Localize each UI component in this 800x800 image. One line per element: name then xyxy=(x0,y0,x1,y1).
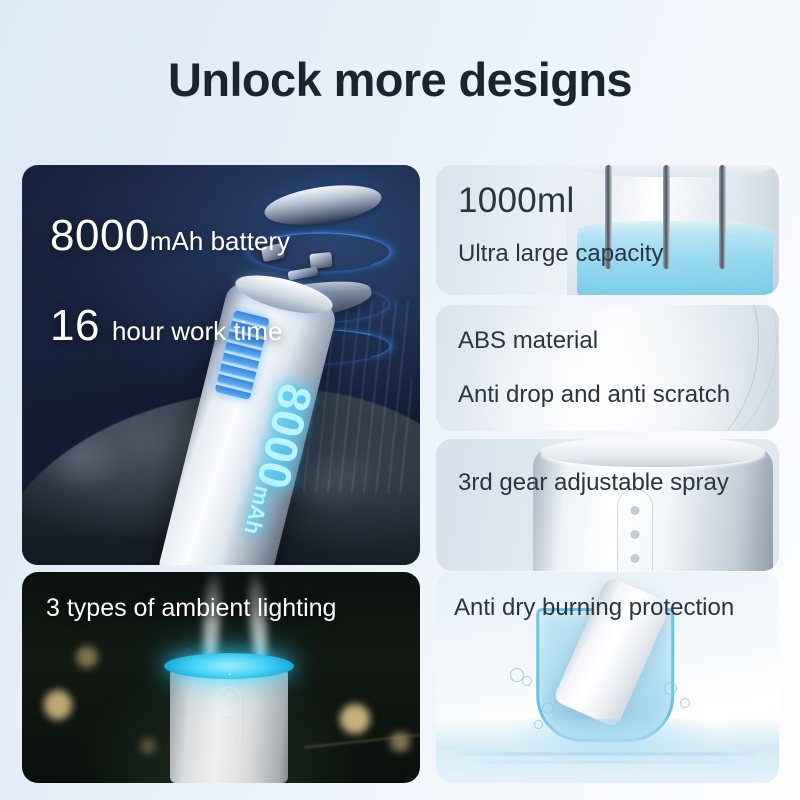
infographic-page: Unlock more designs 8000mAh xyxy=(0,0,800,800)
product-body-illustration xyxy=(533,447,773,571)
battery-capacity-value: 8000 xyxy=(50,211,150,260)
card-ambient-lighting[interactable]: ◔ ≈ ⏻ 3 types of ambient lighting xyxy=(22,572,420,783)
control-dot-icon xyxy=(631,530,640,539)
battery-worktime-value: 16 xyxy=(50,301,100,350)
bokeh-light-decoration xyxy=(140,738,156,754)
capacity-caption: Ultra large capacity xyxy=(458,240,663,268)
card-battery[interactable]: 8000mAh 8000mAh battery 16hour work time xyxy=(22,165,420,565)
bubble-decoration xyxy=(664,682,677,695)
battery-cell-label-unit: mAh xyxy=(240,483,276,536)
card-capacity[interactable]: 1000ml Ultra large capacity xyxy=(436,165,779,295)
water-splash-decoration xyxy=(436,719,779,783)
capacity-value: 1000ml xyxy=(458,181,575,221)
power-icon: ⏻ xyxy=(225,709,233,719)
bubble-decoration xyxy=(522,676,532,686)
ambient-line-1: 3 types of ambient lighting xyxy=(46,594,336,623)
battery-capacity-line: 8000mAh battery xyxy=(50,211,290,261)
material-line-2: Anti drop and anti scratch xyxy=(458,381,730,409)
product-top-rim xyxy=(541,439,765,467)
feature-card-grid: 8000mAh 8000mAh battery 16hour work time xyxy=(22,165,779,783)
surface-arc-decoration xyxy=(525,305,777,431)
bokeh-light-decoration xyxy=(44,690,72,720)
bokeh-light-decoration xyxy=(340,704,370,734)
water-ripple-decoration xyxy=(457,753,759,755)
page-title: Unlock more designs xyxy=(0,52,800,107)
material-line-1: ABS material xyxy=(458,327,598,355)
bokeh-light-decoration xyxy=(76,646,98,668)
control-dot-icon xyxy=(631,554,640,563)
battery-capacity-unit: mAh battery xyxy=(150,226,290,256)
bubble-decoration xyxy=(680,698,690,708)
battery-worktime-line: 16hour work time xyxy=(50,301,290,351)
card-spray[interactable]: 3rd gear adjustable spray xyxy=(436,439,779,571)
humidifier-illustration: ◔ ≈ ⏻ xyxy=(170,665,288,783)
bubble-decoration xyxy=(534,720,543,729)
battery-worktime-unit: hour work time xyxy=(112,316,283,346)
bubble-decoration xyxy=(542,702,554,714)
water-tank-illustration xyxy=(567,165,779,295)
timer-icon: ◔ xyxy=(227,671,232,679)
control-dot-icon xyxy=(631,506,640,515)
dry-protection-line-1: Anti dry burning protection xyxy=(454,594,734,622)
battery-card-text: 8000mAh battery 16hour work time xyxy=(50,211,290,351)
card-dry-protection[interactable]: Anti dry burning protection xyxy=(436,572,779,783)
water-ripple-decoration xyxy=(477,761,738,763)
spray-line-1: 3rd gear adjustable spray xyxy=(458,469,729,497)
tank-tube xyxy=(719,165,726,269)
card-material[interactable]: ABS material Anti drop and anti scratch xyxy=(436,305,779,431)
product-control-panel xyxy=(617,489,653,571)
water-tank-lip xyxy=(571,165,779,177)
mist-icon: ≈ xyxy=(227,691,231,699)
tank-tube xyxy=(663,165,670,269)
